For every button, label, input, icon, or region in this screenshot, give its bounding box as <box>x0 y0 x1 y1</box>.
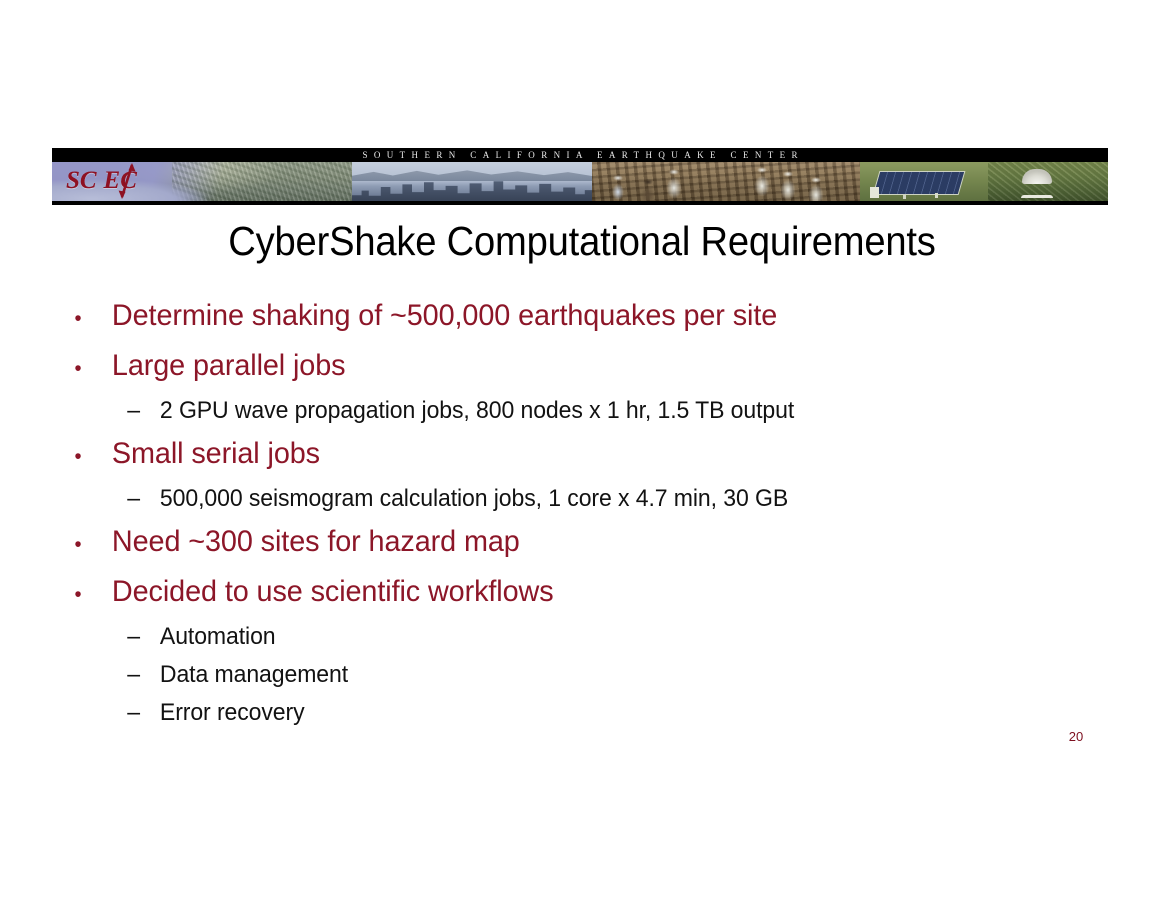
sub-bullet-item: – 500,000 seismogram calculation jobs, 1… <box>62 480 1041 518</box>
bullet-text: Determine shaking of ~500,000 earthquake… <box>112 292 777 339</box>
banner-bottom-rule <box>52 201 1108 205</box>
sub-bullet-marker: – <box>62 694 160 732</box>
sub-bullet-text: Data management <box>160 656 348 694</box>
bullet-item: • Determine shaking of ~500,000 earthqua… <box>62 292 1041 342</box>
field-geologists-trench-photo <box>592 162 860 201</box>
bullet-item: • Need ~300 sites for hazard map <box>62 518 1041 568</box>
gps-dome-antenna-photo <box>988 162 1108 201</box>
sub-bullet-text: Automation <box>160 618 276 656</box>
sub-bullet-marker: – <box>62 656 160 694</box>
scec-logo-text: SC/EC <box>66 166 137 196</box>
solar-panel-array-photo <box>860 162 988 201</box>
banner-caption-text: SOUTHERN CALIFORNIA EARTHQUAKE CENTER <box>52 148 1108 162</box>
sub-bullet-item: – Automation <box>62 618 1041 656</box>
bullet-item: • Small serial jobs <box>62 430 1041 480</box>
page-number: 20 <box>1058 729 1094 745</box>
sub-bullet-item: – Data management <box>62 656 1041 694</box>
sub-bullet-marker: – <box>62 618 160 656</box>
bullet-text: Decided to use scientific workflows <box>112 568 554 615</box>
bullet-marker: • <box>62 433 112 480</box>
bullet-text: Large parallel jobs <box>112 342 346 389</box>
bullet-item: • Large parallel jobs <box>62 342 1041 392</box>
sub-bullet-marker: – <box>62 392 160 430</box>
slide-title: CyberShake Computational Requirements <box>89 218 1075 265</box>
presentation-slide: SOUTHERN CALIFORNIA EARTHQUAKE CENTER SC… <box>0 0 1164 899</box>
bullet-marker: • <box>62 521 112 568</box>
sub-bullet-item: – Error recovery <box>62 694 1041 732</box>
bullet-text: Need ~300 sites for hazard map <box>112 518 520 565</box>
bullet-marker: • <box>62 345 112 392</box>
slide-body-bullet-list: • Determine shaking of ~500,000 earthqua… <box>62 292 1082 732</box>
bullet-text: Small serial jobs <box>112 430 320 477</box>
los-angeles-skyline-photo <box>352 162 592 201</box>
sub-bullet-item: – 2 GPU wave propagation jobs, 800 nodes… <box>62 392 1041 430</box>
satellite-coastline-photo: SC/EC <box>52 162 352 201</box>
banner-photo-montage: SC/EC <box>52 162 1108 201</box>
sub-bullet-marker: – <box>62 480 160 518</box>
bullet-item: • Decided to use scientific workflows <box>62 568 1041 618</box>
scec-header-banner: SOUTHERN CALIFORNIA EARTHQUAKE CENTER SC… <box>52 148 1108 205</box>
sub-bullet-text: Error recovery <box>160 694 305 732</box>
sub-bullet-text: 2 GPU wave propagation jobs, 800 nodes x… <box>160 392 794 430</box>
sub-bullet-text: 500,000 seismogram calculation jobs, 1 c… <box>160 480 788 518</box>
bullet-marker: • <box>62 295 112 342</box>
bullet-marker: • <box>62 571 112 618</box>
